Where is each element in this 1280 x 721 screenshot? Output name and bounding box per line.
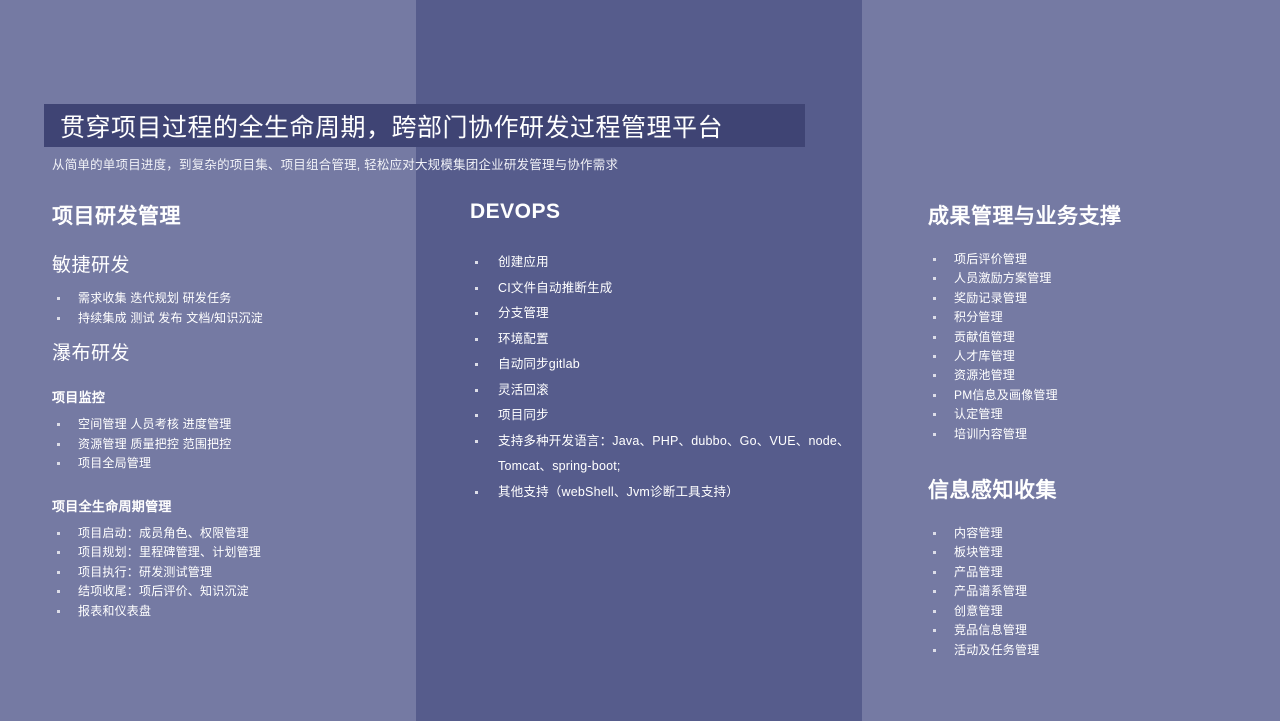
list-item: 支持多种开发语言：Java、PHP、dubbo、Go、VUE、node、Tomc… [470,429,850,480]
list-item: 自动同步gitlab [470,352,850,378]
list-devops: 创建应用 CI文件自动推断生成 分支管理 环境配置 自动同步gitlab 灵活回… [470,250,850,505]
list-item: 奖励记录管理 [928,289,1268,308]
column-left-heading: 项目研发管理 [52,200,402,230]
list-item: 人才库管理 [928,347,1268,366]
list-item: 项目启动：成员角色、权限管理 [52,524,402,544]
column-devops: DEVOPS 创建应用 CI文件自动推断生成 分支管理 环境配置 自动同步git… [470,200,850,505]
list-item: 创意管理 [928,602,1268,621]
list-item: 板块管理 [928,543,1268,562]
list-item: 项后评价管理 [928,250,1268,269]
list-item: 空间管理 人员考核 进度管理 [52,415,402,435]
column-right-heading-one: 成果管理与业务支撑 [928,200,1268,230]
list-item: 产品管理 [928,563,1268,582]
list-item: 积分管理 [928,308,1268,327]
list-agile: 需求收集 迭代规划 研发任务 持续集成 测试 发布 文档/知识沉淀 [52,289,402,328]
title-banner: 贯穿项目过程的全生命周期，跨部门协作研发过程管理平台 [44,104,805,147]
list-item: 持续集成 测试 发布 文档/知识沉淀 [52,309,402,329]
list-info-collection: 内容管理 板块管理 产品管理 产品谱系管理 创意管理 竞品信息管理 活动及任务管… [928,524,1268,660]
list-item: 产品谱系管理 [928,582,1268,601]
list-item: 人员激励方案管理 [928,269,1268,288]
subheading-agile: 敏捷研发 [52,250,402,277]
column-middle-heading: DEVOPS [470,200,850,224]
list-item: 环境配置 [470,327,850,353]
list-item: 灵活回滚 [470,378,850,404]
spacer [52,328,402,334]
list-item: 项目同步 [470,403,850,429]
page-title: 贯穿项目过程的全生命周期，跨部门协作研发过程管理平台 [60,108,723,144]
list-item: 资源管理 质量把控 范围把控 [52,435,402,455]
list-project-monitoring: 空间管理 人员考核 进度管理 资源管理 质量把控 范围把控 项目全局管理 [52,415,402,474]
list-item: 认定管理 [928,405,1268,424]
list-item: 报表和仪表盘 [52,602,402,622]
list-item: 资源池管理 [928,366,1268,385]
list-item: 其他支持（webShell、Jvm诊断工具支持） [470,480,850,506]
list-item: 活动及任务管理 [928,641,1268,660]
list-item: 培训内容管理 [928,425,1268,444]
group-heading-project-monitoring: 项目监控 [52,387,402,406]
slide-canvas: 贯穿项目过程的全生命周期，跨部门协作研发过程管理平台 从简单的单项目进度，到复杂… [0,0,1280,721]
list-item: 结项收尾：项后评价、知识沉淀 [52,582,402,602]
column-right-heading-two: 信息感知收集 [928,474,1268,504]
group-heading-project-lifecycle: 项目全生命周期管理 [52,496,402,515]
list-item: 贡献值管理 [928,328,1268,347]
list-item: PM信息及画像管理 [928,386,1268,405]
column-outcome-and-info: 成果管理与业务支撑 项后评价管理 人员激励方案管理 奖励记录管理 积分管理 贡献… [928,200,1268,660]
list-item: 创建应用 [470,250,850,276]
list-item: 内容管理 [928,524,1268,543]
column-project-rd-management: 项目研发管理 敏捷研发 需求收集 迭代规划 研发任务 持续集成 测试 发布 文档… [52,200,402,621]
list-item: 项目规划：里程碑管理、计划管理 [52,543,402,563]
subheading-waterfall: 瀑布研发 [52,338,402,365]
list-outcome-management: 项后评价管理 人员激励方案管理 奖励记录管理 积分管理 贡献值管理 人才库管理 … [928,250,1268,444]
list-item: 分支管理 [470,301,850,327]
list-item: 项目执行：研发测试管理 [52,563,402,583]
list-item: 需求收集 迭代规划 研发任务 [52,289,402,309]
list-item: 项目全局管理 [52,454,402,474]
page-subtitle: 从简单的单项目进度，到复杂的项目集、项目组合管理, 轻松应对大规模集团企业研发管… [52,154,618,173]
list-item: CI文件自动推断生成 [470,276,850,302]
list-item: 竞品信息管理 [928,621,1268,640]
list-project-lifecycle: 项目启动：成员角色、权限管理 项目规划：里程碑管理、计划管理 项目执行：研发测试… [52,524,402,622]
